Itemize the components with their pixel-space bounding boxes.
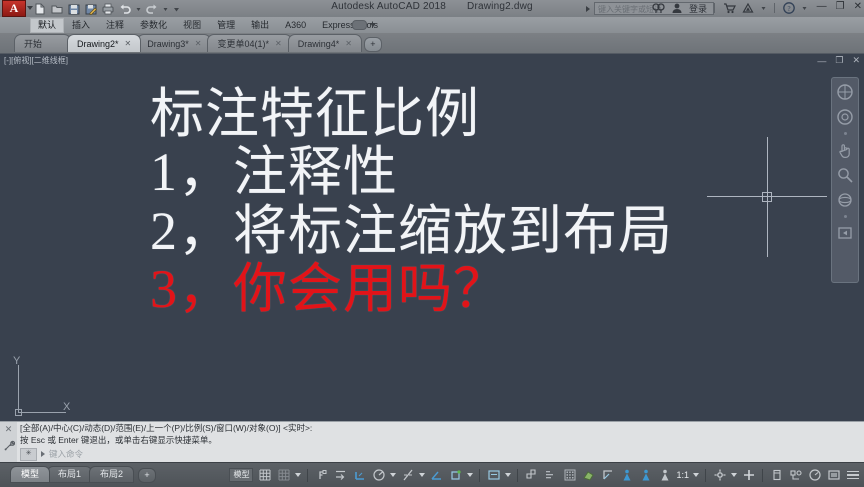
drawing-close-button[interactable]: ✕ xyxy=(852,55,860,66)
user-account-icon[interactable] xyxy=(670,1,684,15)
pickbox xyxy=(762,192,772,202)
file-tab-drawing4[interactable]: Drawing4* ✕ xyxy=(288,34,362,52)
layout-tabs: 模型 布局1 布局2 + xyxy=(10,466,156,483)
layout-tab-layout2[interactable]: 布局2 xyxy=(89,466,134,483)
3d-osnap-caret-icon[interactable] xyxy=(467,473,473,477)
title-bar: A xyxy=(0,0,864,18)
drawing-text-line-1: 标注特征比例 xyxy=(150,85,850,143)
command-history: [全部(A)/中心(C)/动态(D)/范围(E)/上一个(P)/比例(S)/窗口… xyxy=(20,423,850,446)
annotation-monitor-icon[interactable] xyxy=(619,468,634,483)
drawing-text-line-4: 3，你会用吗？ xyxy=(150,260,850,318)
polar-caret-icon[interactable] xyxy=(390,473,396,477)
sign-in-label[interactable]: 登录 xyxy=(689,2,707,15)
ribbon-overflow-icon[interactable] xyxy=(352,20,367,30)
command-line-side-controls: ✕ xyxy=(0,422,17,465)
ribbon-tab-parametric[interactable]: 参数化 xyxy=(132,18,175,33)
drawing-restore-button[interactable]: ❐ xyxy=(835,55,843,66)
file-tab-start[interactable]: 开始 xyxy=(14,34,71,52)
new-file-tab-button[interactable]: + xyxy=(364,37,382,52)
ribbon-tab-a360[interactable]: A360 xyxy=(277,18,314,33)
help-icon[interactable]: ? xyxy=(782,1,796,15)
snap-caret-icon[interactable] xyxy=(295,473,301,477)
file-tab-drawing2[interactable]: Drawing2* ✕ xyxy=(67,34,141,52)
lineweight-icon[interactable] xyxy=(486,468,501,483)
units-caret-icon[interactable] xyxy=(731,473,737,477)
transparency-icon[interactable] xyxy=(524,468,539,483)
units-icon[interactable] xyxy=(712,468,727,483)
ribbon-tab-annotate[interactable]: 注释 xyxy=(98,18,132,33)
viewport-controls-label[interactable]: [-][俯视][二维线框] xyxy=(4,55,68,66)
command-history-caret-icon[interactable] xyxy=(41,451,45,457)
selection-cycling-icon[interactable] xyxy=(543,468,558,483)
close-button[interactable]: ✕ xyxy=(854,2,862,12)
pan-icon[interactable] xyxy=(835,140,855,160)
isolate-objects-icon[interactable] xyxy=(788,468,803,483)
command-history-line-2: 按 Esc 或 Enter 键退出，或单击右键显示快捷菜单。 xyxy=(20,435,850,447)
command-prompt-icon[interactable]: ✳ xyxy=(20,448,37,461)
autocad-window: A xyxy=(0,0,864,486)
drawing-window: [-][俯视][二维线框] — ❐ ✕ 标注特征比例 1，注释性 2，将标注缩放… xyxy=(0,53,864,422)
status-separator-1 xyxy=(307,469,308,482)
command-input-row[interactable]: ✳ 键入命令 xyxy=(20,447,856,461)
clean-screen-icon[interactable] xyxy=(826,468,841,483)
quick-properties-icon[interactable] xyxy=(769,468,784,483)
grid-display-icon[interactable] xyxy=(257,468,272,483)
object-snap-icon[interactable] xyxy=(429,468,444,483)
hardware-acceleration-icon[interactable] xyxy=(807,468,822,483)
ucs-origin xyxy=(15,409,22,416)
viewport-header: [-][俯视][二维线框] — ❐ ✕ xyxy=(0,54,864,68)
ribbon-overflow-caret-icon[interactable] xyxy=(370,23,376,27)
ribbon-tab-home[interactable]: 默认 xyxy=(30,18,64,33)
ribbon-tab-insert[interactable]: 插入 xyxy=(64,18,98,33)
command-settings-icon[interactable] xyxy=(3,439,15,457)
file-tab-label: Drawing3* xyxy=(147,39,189,49)
title-separator-2 xyxy=(774,3,775,13)
annotation-visibility-icon[interactable] xyxy=(562,468,577,483)
navbar-divider-dot xyxy=(844,132,847,135)
gizmo-icon[interactable] xyxy=(581,468,596,483)
layout-tab-model[interactable]: 模型 xyxy=(10,466,50,483)
status-bar-toggles: 模型 xyxy=(229,466,860,484)
ucs-x-label: X xyxy=(63,401,70,413)
ortho-mode-icon[interactable] xyxy=(352,468,367,483)
osnap-track-caret-icon[interactable] xyxy=(419,473,425,477)
drawing-minimize-button[interactable]: — xyxy=(817,56,826,66)
orbit-icon[interactable] xyxy=(835,190,855,210)
command-line-area: ✕ [全部(A)/中心(C)/动态(D)/范围(E)/上一个(P)/比例(S)/… xyxy=(0,421,864,463)
new-layout-button[interactable]: + xyxy=(138,468,156,483)
ribbon-tab-manage[interactable]: 管理 xyxy=(209,18,243,33)
ucs-icon: Y X xyxy=(13,357,83,417)
close-icon[interactable]: ✕ xyxy=(195,39,202,48)
drawing-canvas[interactable]: 标注特征比例 1，注释性 2，将标注缩放到布局 3，你会用吗？ Y X xyxy=(0,67,864,422)
restore-button[interactable]: ❐ xyxy=(836,2,845,12)
title-right-icons: 登录 ? xyxy=(651,1,808,15)
infer-constraints-icon[interactable] xyxy=(314,468,329,483)
close-icon[interactable]: ✕ xyxy=(275,39,282,48)
help-caret-icon[interactable] xyxy=(801,1,808,15)
dynamic-input-icon[interactable] xyxy=(333,468,348,483)
ribbon-tab-output[interactable]: 输出 xyxy=(243,18,277,33)
layout-tab-layout1[interactable]: 布局1 xyxy=(47,466,92,483)
status-separator-2 xyxy=(479,469,480,482)
file-tab-label: Drawing2* xyxy=(77,39,119,49)
search-expand-caret-icon[interactable] xyxy=(586,6,590,12)
ucs-x-axis xyxy=(18,412,66,413)
navigation-bar xyxy=(831,77,859,283)
ribbon-overflow[interactable] xyxy=(352,20,376,30)
object-snap-tracking-icon[interactable] xyxy=(400,468,415,483)
search-icon[interactable] xyxy=(651,1,665,15)
drawing-window-controls: — ❐ ✕ xyxy=(817,55,860,66)
command-history-line-1: [全部(A)/中心(C)/动态(D)/范围(E)/上一个(P)/比例(S)/窗口… xyxy=(20,423,850,435)
add-tool-icon[interactable] xyxy=(741,468,756,483)
status-separator-4 xyxy=(705,469,706,482)
command-input[interactable]: 键入命令 xyxy=(49,448,856,460)
annotation-scale-value[interactable]: 1:1 xyxy=(676,470,689,480)
window-controls: — ❐ ✕ xyxy=(817,2,862,12)
file-tab-label: 开始 xyxy=(24,37,42,50)
showmotion-icon[interactable] xyxy=(835,107,855,127)
lineweight-caret-icon[interactable] xyxy=(505,473,511,477)
product-title: Autodesk AutoCAD 2018 xyxy=(331,1,446,12)
document-title: Drawing2.dwg xyxy=(467,1,533,12)
model-space-button[interactable]: 模型 xyxy=(229,468,253,482)
annotation-scale-caret-icon[interactable] xyxy=(693,473,699,477)
customization-icon[interactable] xyxy=(845,468,860,483)
autoscale-icon[interactable] xyxy=(657,468,672,483)
title-separator xyxy=(714,3,715,13)
ucs-y-axis xyxy=(18,365,19,413)
file-tab-label: Drawing4* xyxy=(298,39,340,49)
minimize-button[interactable]: — xyxy=(817,2,827,12)
status-bar: 模型 布局1 布局2 + 模型 xyxy=(0,462,864,487)
close-icon[interactable]: ✕ xyxy=(125,39,132,48)
ucs-y-label: Y xyxy=(13,355,20,367)
svg-text:?: ? xyxy=(787,5,790,13)
polar-tracking-icon[interactable] xyxy=(371,468,386,483)
rewind-icon[interactable] xyxy=(835,223,855,243)
ribbon-tab-view[interactable]: 视图 xyxy=(175,18,209,33)
file-tab-label: 变更单04(1)* xyxy=(217,37,269,50)
file-tabs: 开始 Drawing2* ✕ Drawing3* ✕ 变更单04(1)* ✕ D… xyxy=(14,34,382,52)
snap-mode-icon[interactable] xyxy=(276,468,291,483)
ribbon-tabs: 默认 插入 注释 参数化 视图 管理 输出 A360 Express Tools xyxy=(30,17,386,33)
command-close-icon[interactable]: ✕ xyxy=(5,424,13,434)
3d-object-snap-icon[interactable] xyxy=(448,468,463,483)
zoom-extents-icon[interactable] xyxy=(835,165,855,185)
file-tab-change-order[interactable]: 变更单04(1)* ✕ xyxy=(207,34,291,52)
dynamic-ucs-icon[interactable] xyxy=(600,468,615,483)
autodesk-store-cart-icon[interactable] xyxy=(722,1,736,15)
autodesk-app-icon[interactable] xyxy=(741,1,755,15)
navbar-divider-dot-2 xyxy=(844,215,847,218)
drawing-text-line-3: 2，将标注缩放到布局 xyxy=(150,202,850,260)
file-tab-bar: 开始 Drawing2* ✕ Drawing3* ✕ 变更单04(1)* ✕ D… xyxy=(0,33,864,54)
status-separator-5 xyxy=(762,469,763,482)
store-caret-icon[interactable] xyxy=(760,1,767,15)
drawing-text-block: 标注特征比例 1，注释性 2，将标注缩放到布局 3，你会用吗？ xyxy=(150,85,850,318)
drawing-text-line-2: 1，注释性 xyxy=(150,143,850,201)
status-separator-3 xyxy=(517,469,518,482)
workspace-switching-icon[interactable] xyxy=(638,468,653,483)
steering-wheel-icon[interactable] xyxy=(835,82,855,102)
file-tab-drawing3[interactable]: Drawing3* ✕ xyxy=(137,34,211,52)
ribbon-tab-bar: 默认 插入 注释 参数化 视图 管理 输出 A360 Express Tools xyxy=(0,17,864,34)
close-icon[interactable]: ✕ xyxy=(345,39,352,48)
